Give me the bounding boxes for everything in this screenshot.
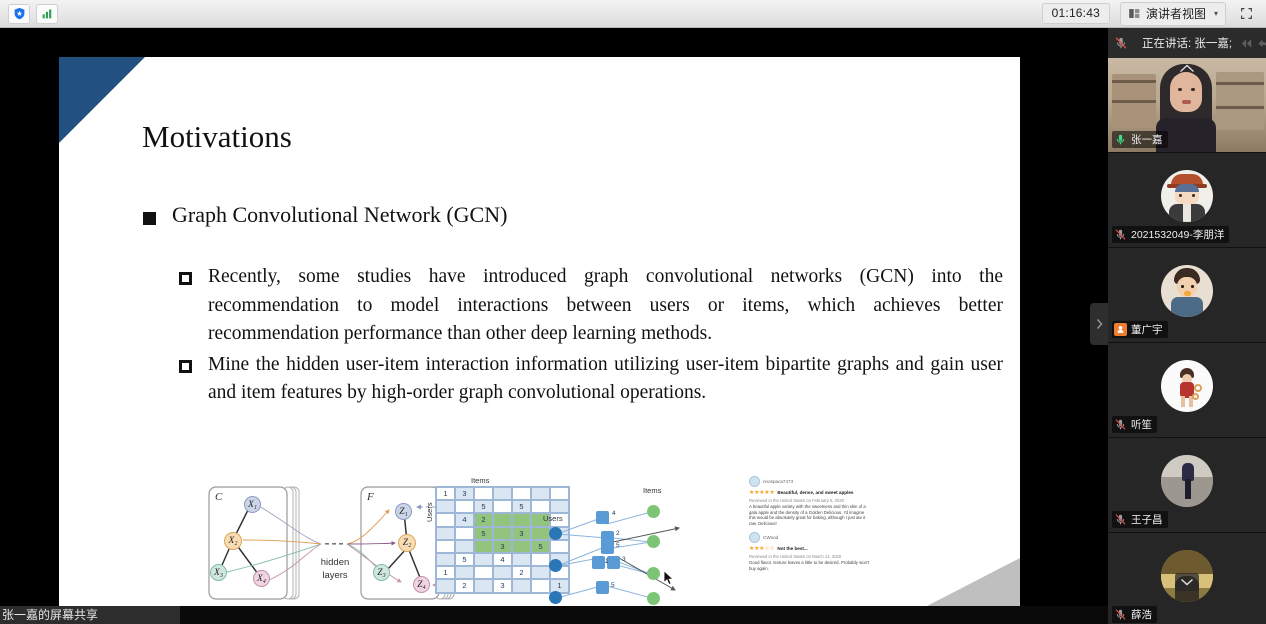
matrix-cell: 5 xyxy=(512,500,531,513)
matrix-cell xyxy=(493,487,512,500)
bullet-item: Mine the hidden user-item interaction in… xyxy=(179,351,1009,408)
bullet-item: Recently, some studies have introduced g… xyxy=(179,263,1009,349)
gcn-node-x2: X₂ xyxy=(224,532,242,550)
collapse-arrows-icon[interactable] xyxy=(1239,36,1254,51)
matrix-cell: 2 xyxy=(474,513,493,526)
avatar xyxy=(1161,265,1213,317)
participant-name: 王子昌 xyxy=(1131,512,1163,527)
reviewer-name: CWood xyxy=(763,535,778,540)
participant-name: 2021532049-李朋洋 xyxy=(1131,227,1224,242)
matrix-cell xyxy=(455,540,474,553)
matrix-cell: 3 xyxy=(512,527,531,540)
mouse-cursor xyxy=(663,570,674,586)
matrix-cell xyxy=(455,500,474,513)
bipartite-item-node xyxy=(596,511,609,524)
meeting-controls: 01:16:43 演讲者视图 ▾ xyxy=(1042,2,1266,26)
product-reviews-panel: rinospaca7473 ★★★★★ Beautiful, dense, an… xyxy=(749,476,869,618)
matrix-cell xyxy=(512,540,531,553)
bipartite-user-node xyxy=(549,527,562,540)
hollow-square-bullet-icon xyxy=(179,272,192,285)
participant-name-badge: 听笙 xyxy=(1112,416,1157,433)
review-body: A beautiful apple variety with the sweet… xyxy=(749,504,869,526)
shared-screen-area: Motivations Graph Convolutional Network … xyxy=(0,28,1108,606)
gcn-node-x4: X₄ xyxy=(253,570,270,587)
avatar xyxy=(1161,455,1213,507)
bipartite-target-node xyxy=(647,505,660,518)
bipartite-target-node xyxy=(647,535,660,548)
matrix-cell: 2 xyxy=(455,579,474,592)
bipartite-item-node xyxy=(592,556,605,569)
bullet-text: Recently, some studies have introduced g… xyxy=(208,263,1003,349)
slide-title: Motivations xyxy=(142,119,292,155)
matrix-cell xyxy=(436,540,455,553)
user-item-matrix-figure: Items Users 135542538355412231 Users Ite… xyxy=(419,476,684,624)
bipartite-target-node xyxy=(647,567,660,580)
bipartite-graph: Users Items xyxy=(539,486,684,621)
matrix-cell: 5 xyxy=(474,500,493,513)
matrix-users-label: Users xyxy=(425,502,434,522)
back-arrow-icon[interactable] xyxy=(1256,36,1266,51)
matrix-cell xyxy=(512,487,531,500)
review-header: CWood xyxy=(749,532,869,543)
matrix-cell: 1 xyxy=(436,566,455,579)
bullet-text: Mine the hidden user-item interaction in… xyxy=(208,351,1003,408)
matrix-cell: 5 xyxy=(455,553,474,566)
matrix-cell xyxy=(474,579,493,592)
matrix-cell xyxy=(455,527,474,540)
participant-name-badge: 2021532049-李朋洋 xyxy=(1112,226,1229,243)
matrix-cell xyxy=(436,500,455,513)
matrix-cell xyxy=(436,513,455,526)
gcn-node-z2: Z₂ xyxy=(398,534,416,552)
speaking-status-text: 正在讲话: 张一嘉; xyxy=(1142,35,1232,51)
hidden-caption-line1: hidden xyxy=(307,556,363,569)
mic-off-icon xyxy=(1114,228,1127,241)
review-rating-row: ★★★★★ Beautiful, dense, and sweet apples xyxy=(749,489,869,496)
gcn-hidden-layers-caption: hidden layers xyxy=(307,556,363,582)
gcn-node-x3: X₃ xyxy=(210,564,227,581)
gcn-node-z3: Z₃ xyxy=(373,564,390,581)
slide-figures: C F X₁ X₂ X₃ X₄ Z₁ Z₂ Z₃ Z₄ Y₁ Y₄ hidden… xyxy=(59,462,1020,624)
participant-tile[interactable]: 张一嘉 xyxy=(1108,58,1266,153)
chevron-right-icon xyxy=(1095,318,1104,330)
speaker-view-icon xyxy=(1128,7,1141,20)
mic-off-icon xyxy=(1114,418,1127,431)
zoom-meeting-window: 01:16:43 演讲者视图 ▾ Motivat xyxy=(0,0,1266,624)
fullscreen-icon[interactable] xyxy=(1236,5,1256,23)
matrix-cell: 5 xyxy=(474,527,493,540)
collapse-panel-button[interactable] xyxy=(1090,303,1108,345)
review-title: Not the best... xyxy=(777,546,807,551)
bipartite-user-node xyxy=(549,559,562,572)
matrix-cell: 3 xyxy=(493,579,512,592)
review-header: rinospaca7473 xyxy=(749,476,869,487)
review-item: CWood ★★★☆☆ Not the best... Reviewed in … xyxy=(749,532,869,571)
participant-name-badge: 张一嘉 xyxy=(1112,131,1168,148)
participant-tile[interactable]: 薛浩 xyxy=(1108,533,1266,624)
gcn-input-panel-label: C xyxy=(215,491,222,503)
matrix-cell: 4 xyxy=(493,553,512,566)
matrix-cell: 1 xyxy=(436,487,455,500)
matrix-cell xyxy=(455,566,474,579)
slide-bullets-level2: Recently, some studies have introduced g… xyxy=(179,263,1009,410)
bipartite-item-node xyxy=(601,541,614,554)
scroll-down-button[interactable] xyxy=(1175,573,1199,591)
matrix-cell xyxy=(436,579,455,592)
view-mode-label: 演讲者视图 xyxy=(1146,5,1206,22)
shield-extension-icon[interactable] xyxy=(8,4,30,24)
participant-name: 董广宇 xyxy=(1131,322,1163,337)
extensions-group xyxy=(0,4,58,24)
matrix-cell xyxy=(493,513,512,526)
active-speaker-bar: 正在讲话: 张一嘉; xyxy=(1108,28,1266,58)
participant-name: 张一嘉 xyxy=(1131,132,1163,147)
matrix-cell xyxy=(493,500,512,513)
host-badge-icon xyxy=(1114,323,1127,336)
matrix-cell xyxy=(474,487,493,500)
chevron-up-icon[interactable] xyxy=(1179,64,1195,73)
bipartite-target-node xyxy=(647,592,660,605)
gcn-node-x1: X₁ xyxy=(244,496,261,513)
bipartite-user-node xyxy=(549,591,562,604)
matrix-cell xyxy=(512,579,531,592)
edge-label: 4 xyxy=(612,510,616,517)
review-meta: Reviewed in the United States on Februar… xyxy=(749,498,869,503)
slide-bullet-level1: Graph Convolutional Network (GCN) xyxy=(143,202,1003,228)
browser-toolbar: 01:16:43 演讲者视图 ▾ xyxy=(0,0,1266,28)
reviewer-name: rinospaca7473 xyxy=(763,479,793,484)
participant-name: 薛浩 xyxy=(1131,607,1152,622)
participant-name-badge: 王子昌 xyxy=(1112,511,1168,528)
mic-off-icon xyxy=(1114,513,1127,526)
participant-tile[interactable]: 董广宇 xyxy=(1108,248,1266,343)
matrix-cell xyxy=(436,527,455,540)
analytics-extension-icon[interactable] xyxy=(36,4,58,24)
chevron-down-icon: ▾ xyxy=(1214,9,1218,18)
matrix-cell: 3 xyxy=(455,487,474,500)
participant-name: 听笙 xyxy=(1131,417,1152,432)
edge-label: 1 xyxy=(605,558,609,565)
meeting-timer: 01:16:43 xyxy=(1042,3,1110,24)
hidden-caption-line2: layers xyxy=(307,569,363,582)
matrix-cell xyxy=(493,566,512,579)
view-mode-selector[interactable]: 演讲者视图 ▾ xyxy=(1120,2,1226,26)
participant-tile[interactable]: 听笙 xyxy=(1108,343,1266,438)
filled-square-bullet-icon xyxy=(143,212,156,225)
reviewer-avatar-icon xyxy=(749,532,760,543)
matrix-cell: 4 xyxy=(455,513,474,526)
edge-label: 5 xyxy=(611,582,615,589)
participant-name-badge: 薛浩 xyxy=(1112,606,1157,623)
bullet-level1-text: Graph Convolutional Network (GCN) xyxy=(172,202,507,228)
review-body: Good flavor, texture leaves a little to … xyxy=(749,560,869,571)
avatar xyxy=(1161,170,1213,222)
participant-name-badge: 董广宇 xyxy=(1112,321,1168,338)
matrix-items-label: Items xyxy=(471,476,489,485)
reviewer-avatar-icon xyxy=(749,476,760,487)
review-title: Beautiful, dense, and sweet apples xyxy=(777,490,853,495)
star-rating-icon: ★★★★★ xyxy=(749,489,774,496)
hollow-square-bullet-icon xyxy=(179,360,192,373)
matrix-cell xyxy=(474,540,493,553)
edge-label: 2 xyxy=(616,530,620,537)
mic-off-icon xyxy=(1114,36,1128,50)
mic-on-icon xyxy=(1114,133,1127,146)
review-rating-row: ★★★☆☆ Not the best... xyxy=(749,545,869,552)
avatar xyxy=(1161,360,1213,412)
gcn-node-z1: Z₁ xyxy=(395,503,412,520)
matrix-cell xyxy=(436,553,455,566)
mic-off-icon xyxy=(1114,608,1127,621)
panel-action-icons xyxy=(1239,36,1266,51)
participants-panel: 正在讲话: 张一嘉; xyxy=(1108,28,1266,624)
matrix-cell: 3 xyxy=(493,540,512,553)
review-meta: Reviewed in the United States on March 1… xyxy=(749,554,869,559)
participant-tile[interactable]: 王子昌 xyxy=(1108,438,1266,533)
slide-corner-decoration-topleft xyxy=(59,57,145,143)
matrix-cell xyxy=(474,553,493,566)
star-rating-icon: ★★★☆☆ xyxy=(749,545,774,552)
review-item: rinospaca7473 ★★★★★ Beautiful, dense, an… xyxy=(749,476,869,526)
matrix-cell: 2 xyxy=(512,566,531,579)
presentation-slide: Motivations Graph Convolutional Network … xyxy=(59,57,1020,624)
chevron-down-icon xyxy=(1180,578,1194,586)
matrix-cell xyxy=(493,527,512,540)
bipartite-item-node xyxy=(596,581,609,594)
share-caption: 张一嘉的屏幕共享 xyxy=(2,606,98,623)
gcn-output-panel-label: F xyxy=(367,491,374,503)
participant-tile[interactable]: 2021532049-李朋洋 xyxy=(1108,153,1266,248)
edge-label: 5 xyxy=(616,542,620,549)
matrix-cell xyxy=(512,553,531,566)
edge-label: 3 xyxy=(622,556,626,563)
matrix-cell xyxy=(512,513,531,526)
bottom-bar xyxy=(0,606,1108,624)
matrix-cell xyxy=(474,566,493,579)
